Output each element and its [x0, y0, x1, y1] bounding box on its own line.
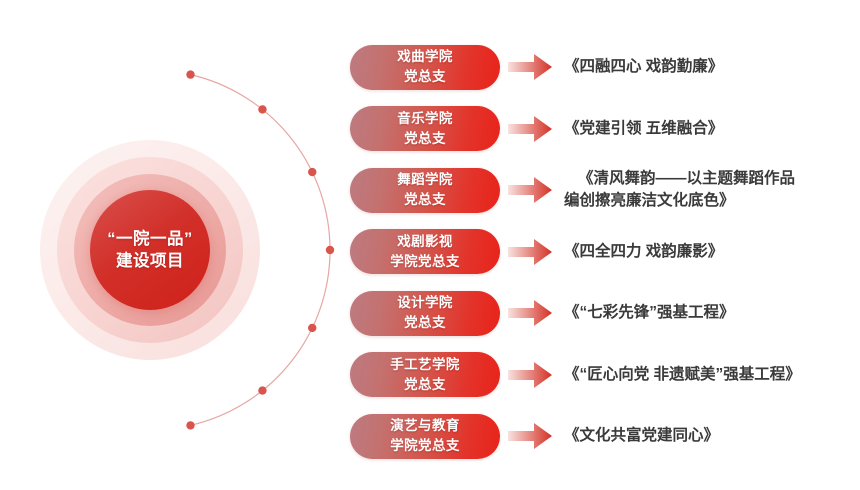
arrow-shape — [508, 116, 552, 142]
program-row: 戏剧影视学院党总支《四全四力 戏韵廉影》 — [350, 229, 850, 275]
orbit-dot — [186, 421, 194, 429]
right-arrow-icon — [508, 422, 552, 450]
department-pill[interactable]: 手工艺学院党总支 — [350, 352, 500, 397]
department-pill-line2: 党总支 — [404, 129, 446, 149]
program-title-line: 《清风舞韵——以主题舞蹈作品 — [564, 168, 850, 190]
right-arrow-icon — [508, 53, 552, 81]
department-pill-line2: 党总支 — [404, 67, 446, 87]
orbit-dot — [186, 70, 194, 78]
program-title-line: 《四融四心 戏韵勤廉》 — [564, 56, 850, 78]
program-title-line: 《“七彩先锋”强基工程》 — [564, 302, 850, 324]
arrow-shape — [508, 300, 552, 326]
right-arrow-icon — [508, 115, 552, 143]
orbit-dot — [308, 168, 316, 176]
right-arrow-icon — [508, 176, 552, 204]
program-title: 《“匠心向党 非遗赋美”强基工程》 — [560, 364, 850, 386]
program-row: 戏曲学院党总支《四融四心 戏韵勤廉》 — [350, 44, 850, 90]
arrow-shape — [508, 54, 552, 80]
department-pill[interactable]: 戏剧影视学院党总支 — [350, 229, 500, 274]
program-title-line: 《四全四力 戏韵廉影》 — [564, 241, 850, 263]
department-pill-line1: 音乐学院 — [397, 109, 453, 129]
arrow-container — [500, 53, 560, 81]
arrow-shape — [508, 362, 552, 388]
hero-circle: “一院一品” 建设项目 — [40, 140, 260, 360]
hero-title-line1: “一院一品” — [85, 228, 215, 250]
department-pill[interactable]: 戏曲学院党总支 — [350, 45, 500, 90]
program-title-line: 《党建引领 五维融合》 — [564, 118, 850, 140]
arrow-shape — [508, 177, 552, 203]
department-pill-line1: 演艺与教育 — [390, 416, 460, 436]
slide-canvas: “一院一品” 建设项目 戏曲学院党总支《四融四心 戏韵勤廉》音乐学院党总支《党建… — [0, 0, 860, 490]
department-pill-line1: 戏剧影视 — [397, 232, 453, 252]
program-title: 《四融四心 戏韵勤廉》 — [560, 56, 850, 78]
department-pill-line1: 设计学院 — [397, 293, 453, 313]
department-pill[interactable]: 音乐学院党总支 — [350, 106, 500, 151]
orbit-dot — [308, 324, 316, 332]
arrow-shape — [508, 423, 552, 449]
department-pill-line1: 舞蹈学院 — [397, 170, 453, 190]
right-arrow-icon — [508, 361, 552, 389]
program-title-line: 《文化共富党建同心》 — [564, 425, 850, 447]
department-pill[interactable]: 设计学院党总支 — [350, 291, 500, 336]
department-pill[interactable]: 演艺与教育学院党总支 — [350, 414, 500, 459]
department-pill-line1: 手工艺学院 — [390, 355, 460, 375]
department-pill-line2: 党总支 — [404, 313, 446, 333]
arrow-container — [500, 422, 560, 450]
right-arrow-icon — [508, 299, 552, 327]
hero-title: “一院一品” 建设项目 — [85, 228, 215, 272]
department-pill-line2: 学院党总支 — [390, 436, 460, 456]
arrow-container — [500, 299, 560, 327]
arrow-container — [500, 361, 560, 389]
program-title: 《党建引领 五维融合》 — [560, 118, 850, 140]
right-arrow-icon — [508, 238, 552, 266]
department-pill-line2: 学院党总支 — [390, 252, 460, 272]
arrow-container — [500, 176, 560, 204]
program-title: 《“七彩先锋”强基工程》 — [560, 302, 850, 324]
orbit-dot — [326, 246, 334, 254]
program-title: 《文化共富党建同心》 — [560, 425, 850, 447]
department-pill-line1: 戏曲学院 — [397, 47, 453, 67]
program-row: 手工艺学院党总支《“匠心向党 非遗赋美”强基工程》 — [350, 352, 850, 398]
orbit-dot — [258, 105, 266, 113]
arrow-container — [500, 238, 560, 266]
program-row: 舞蹈学院党总支《清风舞韵——以主题舞蹈作品编创擦亮廉洁文化底色》 — [350, 167, 850, 213]
program-title: 《清风舞韵——以主题舞蹈作品编创擦亮廉洁文化底色》 — [560, 168, 850, 212]
program-title: 《四全四力 戏韵廉影》 — [560, 241, 850, 263]
department-pill-line2: 党总支 — [404, 375, 446, 395]
program-row: 演艺与教育学院党总支《文化共富党建同心》 — [350, 413, 850, 459]
program-row: 设计学院党总支《“七彩先锋”强基工程》 — [350, 290, 850, 336]
hero-title-line2: 建设项目 — [85, 250, 215, 272]
department-pill[interactable]: 舞蹈学院党总支 — [350, 168, 500, 213]
department-pill-line2: 党总支 — [404, 190, 446, 210]
program-row: 音乐学院党总支《党建引领 五维融合》 — [350, 106, 850, 152]
program-title-line: 《“匠心向党 非遗赋美”强基工程》 — [564, 364, 850, 386]
arrow-container — [500, 115, 560, 143]
arrow-shape — [508, 239, 552, 265]
program-title-line: 编创擦亮廉洁文化底色》 — [564, 190, 850, 212]
orbit-dot — [258, 386, 266, 394]
